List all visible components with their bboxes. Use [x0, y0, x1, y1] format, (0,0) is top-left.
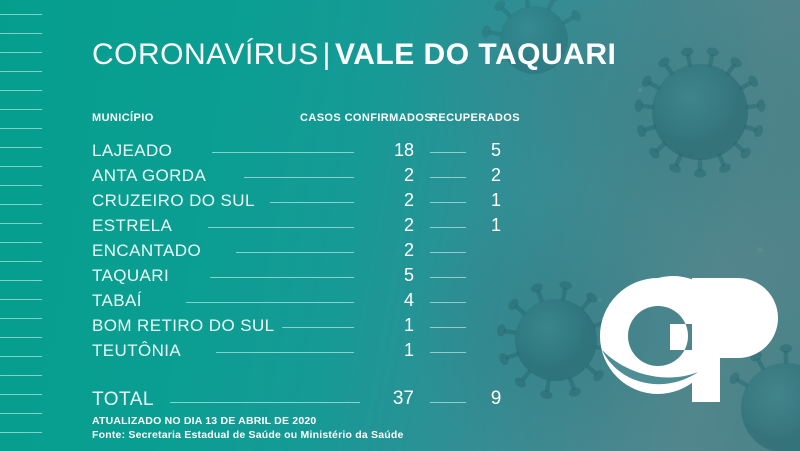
row-leader-line — [208, 227, 354, 228]
row-leader-line — [186, 302, 354, 303]
total-confirmed: 37 — [368, 388, 414, 410]
table-row: ANTA GORDA 2 2 — [92, 165, 752, 190]
row-municipality: TEUTÔNIA — [92, 341, 181, 361]
cases-table: MUNICÍPIO CASOS CONFIRMADOS RECUPERADOS … — [92, 112, 752, 128]
footer-updated-date: ATUALIZADO NO DIA 13 DE ABRIL DE 2020 — [92, 414, 404, 428]
total-recovered: 9 — [478, 388, 514, 410]
row-mid-dash — [430, 327, 466, 328]
row-leader-line — [216, 352, 354, 353]
row-municipality: BOM RETIRO DO SUL — [92, 316, 275, 336]
footer-source: Fonte: Secretaria Estadual de Saúde ou M… — [92, 428, 404, 442]
row-municipality: TABAÍ — [92, 291, 142, 311]
table-row: ESTRELA 2 1 — [92, 215, 752, 240]
row-municipality: LAJEADO — [92, 141, 172, 161]
row-confirmed: 2 — [368, 190, 414, 211]
row-mid-dash — [430, 252, 466, 253]
row-municipality: CRUZEIRO DO SUL — [92, 191, 255, 211]
row-recovered: 5 — [478, 140, 514, 161]
footer: ATUALIZADO NO DIA 13 DE ABRIL DE 2020 Fo… — [92, 414, 404, 442]
title-primary: CORONAVÍRUS — [92, 38, 319, 71]
table-row: CRUZEIRO DO SUL 2 1 — [92, 190, 752, 215]
row-leader-line — [282, 327, 354, 328]
row-leader-line — [236, 252, 354, 253]
row-mid-dash — [430, 177, 466, 178]
row-recovered: 2 — [478, 165, 514, 186]
row-confirmed: 1 — [368, 340, 414, 361]
row-mid-dash — [430, 277, 466, 278]
row-recovered: 1 — [478, 190, 514, 211]
row-confirmed: 18 — [368, 140, 414, 161]
row-leader-line — [210, 277, 354, 278]
title-separator: | — [323, 38, 331, 71]
row-mid-dash — [430, 152, 466, 153]
row-municipality: ENCANTADO — [92, 241, 201, 261]
row-mid-dash — [430, 352, 466, 353]
row-leader-line — [270, 202, 354, 203]
row-confirmed: 2 — [368, 240, 414, 261]
total-label: TOTAL — [92, 389, 154, 411]
row-confirmed: 4 — [368, 290, 414, 311]
gp-logo — [588, 272, 784, 408]
row-confirmed: 1 — [368, 315, 414, 336]
row-recovered: 1 — [478, 215, 514, 236]
coronavirus-infographic: CORONAVÍRUS|VALE DO TAQUARI MUNICÍPIO CA… — [0, 0, 800, 451]
row-mid-dash — [430, 202, 466, 203]
total-mid-dash — [430, 402, 466, 403]
table-header-row: MUNICÍPIO CASOS CONFIRMADOS RECUPERADOS — [92, 112, 752, 128]
row-leader-line — [212, 152, 354, 153]
row-confirmed: 5 — [368, 265, 414, 286]
row-mid-dash — [430, 302, 466, 303]
row-mid-dash — [430, 227, 466, 228]
row-leader-line — [244, 177, 354, 178]
page-title: CORONAVÍRUS|VALE DO TAQUARI — [92, 38, 616, 72]
row-confirmed: 2 — [368, 215, 414, 236]
column-header-municipality: MUNICÍPIO — [92, 112, 154, 124]
title-region: VALE DO TAQUARI — [335, 38, 616, 71]
total-leader-line — [170, 402, 360, 403]
row-municipality: ANTA GORDA — [92, 166, 206, 186]
column-header-recovered: RECUPERADOS — [430, 112, 520, 124]
row-confirmed: 2 — [368, 165, 414, 186]
column-header-confirmed: CASOS CONFIRMADOS — [300, 112, 432, 124]
table-row: ENCANTADO 2 — [92, 240, 752, 265]
table-row: LAJEADO 18 5 — [92, 140, 752, 165]
row-municipality: ESTRELA — [92, 216, 172, 236]
row-municipality: TAQUARI — [92, 266, 169, 286]
